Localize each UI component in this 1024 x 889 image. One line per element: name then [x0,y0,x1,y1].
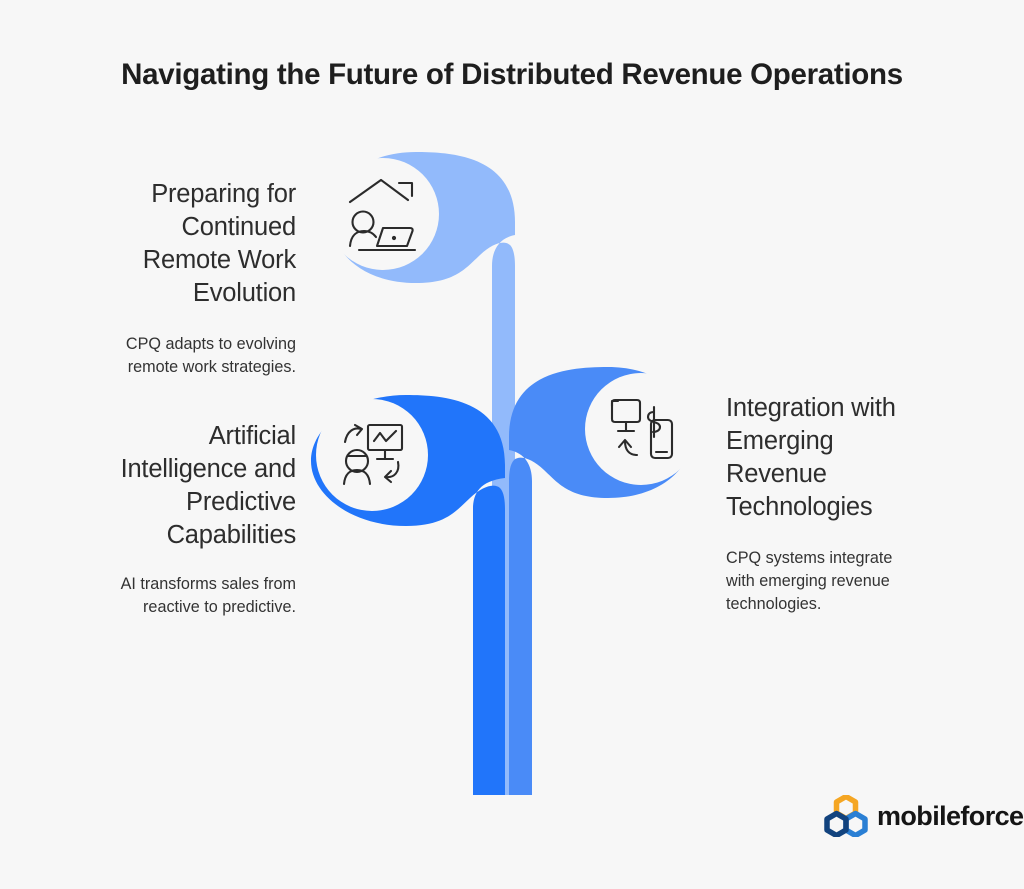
node-shape-integration [509,367,697,795]
infographic-canvas: Navigating the Future of Distributed Rev… [0,0,1024,889]
logo-wordmark: mobileforce [877,803,1023,830]
house-person-laptop-icon [350,180,415,250]
node-shape-remote-work [327,152,515,795]
node-text-integration: Integration with Emerging Revenue Techno… [726,392,966,616]
node-heading-remote-work: Preparing for Continued Remote Work Evol… [40,178,296,311]
node-body-integration: CPQ systems integrate with emerging reve… [726,547,966,616]
brand-logo: mobileforce [824,793,1023,839]
node-body-remote-work: CPQ adapts to evolving remote work strat… [40,333,296,379]
node-body-ai-predictive: AI transforms sales from reactive to pre… [30,573,296,619]
page-title: Navigating the Future of Distributed Rev… [0,58,1024,92]
icon-disc-remote-work [327,158,439,270]
person-chart-arrows-icon [344,425,402,484]
mobileforce-hex-mark [824,795,868,837]
node-text-ai-predictive: Artificial Intelligence and Predictive C… [30,420,296,619]
node-text-remote-work: Preparing for Continued Remote Work Evol… [40,178,296,379]
node-heading-ai-predictive: Artificial Intelligence and Predictive C… [30,420,296,553]
node-shape-ai [311,395,505,795]
icon-disc-integration [585,373,697,485]
node-heading-integration: Integration with Emerging Revenue Techno… [726,392,966,525]
icon-disc-ai [316,399,428,511]
monitor-dollar-phone-icon [612,400,672,458]
